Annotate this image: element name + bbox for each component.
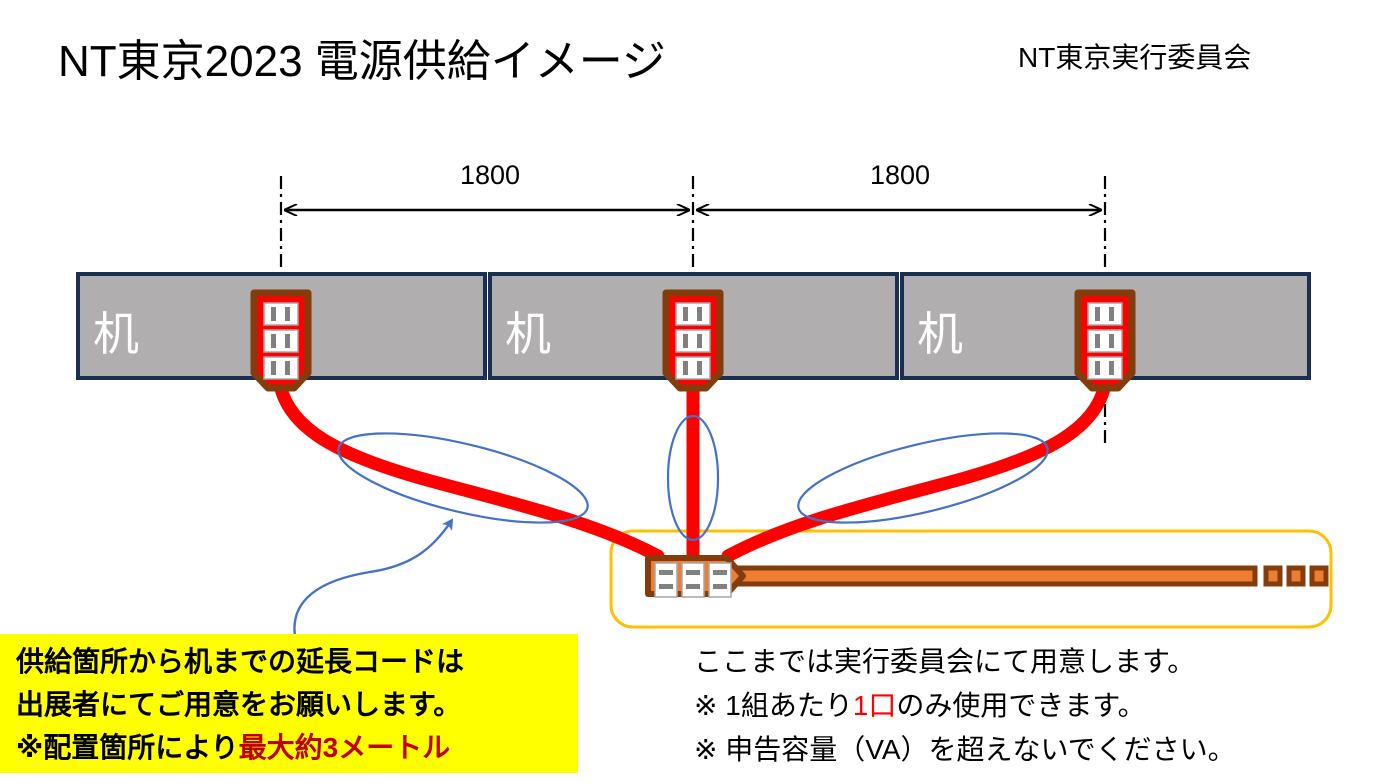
warning-line-3-prefix: ※配置箇所により [16,732,239,763]
extension-cables [280,385,1105,575]
slack-ellipse-right [791,415,1056,541]
note-line-1: ここまでは実行委員会にて用意します。 [694,640,1354,684]
warning-line-2: 出展者にてご用意をお願いします。 [16,683,568,726]
warning-line-1: 供給箇所から机までの延長コードは [16,640,568,683]
supply-cable-dash-2 [1289,568,1303,584]
desk-label-1: 机 [93,298,139,364]
supply-cable-dash-3 [1312,568,1326,584]
desk-label-2: 机 [505,298,551,364]
note-line-3: ※ 申告容量（VA）を超えないでください。 [694,728,1354,772]
slide-canvas: NT東京2023 電源供給イメージ NT東京実行委員会 1800 1800 [0,0,1395,783]
callout-arrow-icon [294,520,452,636]
outlets-2 [676,303,710,379]
power-strip-icon-1 [254,293,308,388]
desk-label-3: 机 [917,298,963,364]
power-distribution-box-icon [648,558,1326,597]
note-line-2: ※ 1組あたり1口のみ使用できます。 [694,684,1354,728]
warning-line-3: ※配置箇所により最大約3メートル [16,726,568,769]
supply-cable-run [740,568,1255,584]
outlets-3 [1088,303,1122,379]
supply-cable-dash-1 [1266,568,1280,584]
distribution-box-outlets [655,563,731,597]
slack-ellipse-left [331,415,596,541]
warning-line-3-accent: 最大約3メートル [239,732,451,763]
committee-notes: ここまでは実行委員会にて用意します。 ※ 1組あたり1口のみ使用できます。 ※ … [694,640,1354,772]
power-strip-icon-2 [666,293,720,388]
note-line-2-suffix: のみ使用できます。 [896,690,1145,721]
note-line-2-prefix: ※ 1組あたり [694,690,853,721]
note-line-2-accent: 1口 [853,690,897,721]
exhibitor-warning-box: 供給箇所から机までの延長コードは 出展者にてご用意をお願いします。 ※配置箇所に… [0,634,578,773]
outlets-1 [264,303,298,379]
cable-left [280,385,658,556]
power-strip-icon-3 [1078,293,1132,388]
